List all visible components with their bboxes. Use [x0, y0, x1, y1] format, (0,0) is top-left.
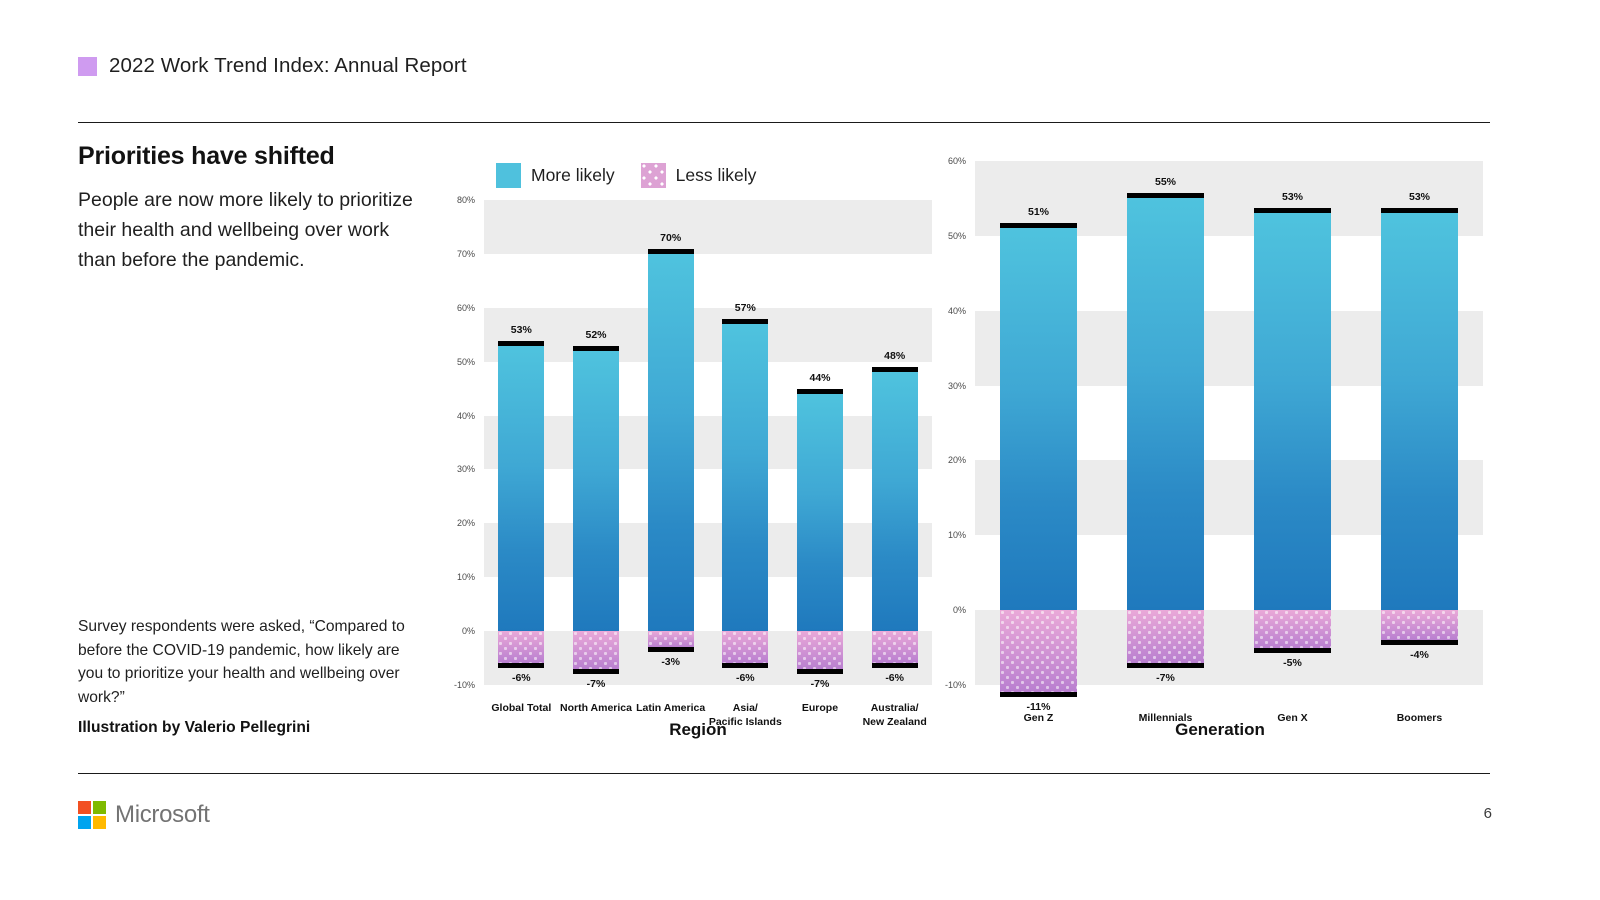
x-axis-title-generation: Generation — [940, 720, 1500, 740]
logo-square-red — [78, 801, 91, 814]
bar-value-label-positive: 51% — [1028, 206, 1049, 218]
bar-value-label-positive: 53% — [1409, 191, 1430, 203]
chart-region: More likely Less likely 80%70%60%50%40%3… — [448, 155, 948, 745]
y-axis-tick-label: 30% — [457, 464, 475, 474]
kicker-swatch-icon — [78, 57, 97, 76]
bar-more-likely[interactable] — [498, 346, 544, 632]
grid-band — [484, 200, 932, 254]
bar-group[interactable]: 48%-6%Australia/ New Zealand — [872, 200, 918, 685]
bar-pattern-overlay — [1254, 610, 1330, 647]
microsoft-logo: Microsoft — [78, 801, 210, 829]
plot-area-generation: 60%50%40%30%20%10%0%-10%51%-11%Gen Z55%-… — [975, 161, 1483, 685]
y-axis-tick-label: 10% — [948, 530, 966, 540]
report-kicker: 2022 Work Trend Index: Annual Report — [78, 54, 467, 78]
y-axis-tick-label: 10% — [457, 572, 475, 582]
bar-group[interactable]: 53%-6%Global Total — [498, 200, 544, 685]
bar-group[interactable]: 53%-5%Gen X — [1254, 161, 1330, 685]
bar-pattern-overlay — [1381, 610, 1457, 640]
bar-value-label-negative: -6% — [885, 672, 904, 684]
bar-value-label-positive: 57% — [735, 302, 756, 314]
bar-value-label-negative: -3% — [661, 656, 680, 668]
bar-pattern-overlay — [573, 631, 619, 669]
bar-more-likely[interactable] — [722, 324, 768, 631]
bar-less-likely[interactable] — [648, 631, 694, 647]
y-axis-tick-label: 20% — [457, 518, 475, 528]
y-axis-tick-label: -10% — [945, 680, 966, 690]
bar-pattern-overlay — [722, 631, 768, 663]
plot-area-region: 80%70%60%50%40%30%20%10%0%-10%53%-6%Glob… — [484, 200, 932, 685]
bar-value-label-negative: -7% — [811, 678, 830, 690]
bar-more-likely[interactable] — [648, 254, 694, 631]
bar-less-likely[interactable] — [722, 631, 768, 663]
bar-less-likely[interactable] — [1381, 610, 1457, 640]
bar-pattern-overlay — [1000, 610, 1076, 692]
bar-value-label-negative: -6% — [736, 672, 755, 684]
bar-less-likely[interactable] — [1254, 610, 1330, 647]
y-axis-tick-label: 40% — [948, 306, 966, 316]
grid-band — [484, 416, 932, 470]
logo-square-yellow — [93, 816, 106, 829]
y-axis-tick-label: 20% — [948, 455, 966, 465]
bar-value-label-negative: -7% — [587, 678, 606, 690]
bar-less-likely[interactable] — [573, 631, 619, 669]
survey-question-footnote: Survey respondents were asked, “Compared… — [78, 615, 408, 709]
legend-label-less-likely: Less likely — [676, 165, 757, 186]
bar-value-label-negative: -5% — [1283, 657, 1302, 669]
illustration-credit: Illustration by Valerio Pellegrini — [78, 719, 310, 737]
bar-value-label-negative: -4% — [1410, 649, 1429, 661]
bar-group[interactable]: 57%-6%Asia/ Pacific Islands — [722, 200, 768, 685]
chart-legend: More likely Less likely — [496, 163, 756, 188]
y-axis-tick-label: 0% — [953, 605, 966, 615]
y-axis-tick-label: -10% — [454, 680, 475, 690]
y-axis-tick-label: 0% — [462, 626, 475, 636]
y-axis-tick-label: 60% — [457, 303, 475, 313]
page-number: 6 — [1484, 805, 1492, 822]
microsoft-squares-icon — [78, 801, 106, 829]
bar-value-label-positive: 52% — [585, 329, 606, 341]
bar-value-label-positive: 55% — [1155, 176, 1176, 188]
bar-pattern-overlay — [872, 631, 918, 663]
bar-more-likely[interactable] — [1254, 213, 1330, 610]
bar-pattern-overlay — [648, 631, 694, 647]
footer-divider — [78, 773, 1490, 774]
bar-more-likely[interactable] — [1127, 198, 1203, 610]
bar-less-likely[interactable] — [1000, 610, 1076, 692]
bar-value-label-positive: 44% — [809, 372, 830, 384]
y-axis-tick-label: 40% — [457, 411, 475, 421]
grid-band — [484, 523, 932, 577]
bar-pattern-overlay — [1127, 610, 1203, 662]
bar-group[interactable]: 53%-4%Boomers — [1381, 161, 1457, 685]
kicker-label: 2022 Work Trend Index: Annual Report — [109, 54, 467, 78]
header-divider — [78, 122, 1490, 123]
bar-value-label-negative: -6% — [512, 672, 531, 684]
y-axis-tick-label: 30% — [948, 381, 966, 391]
bar-more-likely[interactable] — [573, 351, 619, 631]
legend-swatch-less-likely-icon — [641, 163, 666, 188]
legend-label-more-likely: More likely — [531, 165, 615, 186]
legend-item-less-likely: Less likely — [641, 163, 757, 188]
microsoft-wordmark: Microsoft — [115, 801, 210, 829]
bar-less-likely[interactable] — [797, 631, 843, 669]
logo-square-green — [93, 801, 106, 814]
bar-less-likely[interactable] — [498, 631, 544, 663]
y-axis-tick-label: 50% — [948, 231, 966, 241]
bar-value-label-positive: 53% — [1282, 191, 1303, 203]
y-axis-tick-label: 80% — [457, 195, 475, 205]
bar-more-likely[interactable] — [797, 394, 843, 631]
bar-value-label-positive: 48% — [884, 350, 905, 362]
x-axis-title-region: Region — [448, 720, 948, 740]
bar-value-label-positive: 70% — [660, 232, 681, 244]
bar-more-likely[interactable] — [1000, 228, 1076, 610]
bar-pattern-overlay — [797, 631, 843, 669]
chart-generation: 60%50%40%30%20%10%0%-10%51%-11%Gen Z55%-… — [940, 155, 1500, 745]
bar-more-likely[interactable] — [1381, 213, 1457, 610]
grid-band — [484, 308, 932, 362]
bar-group[interactable]: 44%-7%Europe — [797, 200, 843, 685]
legend-item-more-likely: More likely — [496, 163, 615, 188]
bar-group[interactable]: 55%-7%Millennials — [1127, 161, 1203, 685]
legend-swatch-more-likely-icon — [496, 163, 521, 188]
grid-band — [484, 631, 932, 685]
y-axis-tick-label: 50% — [457, 357, 475, 367]
logo-square-blue — [78, 816, 91, 829]
bar-value-label-positive: 53% — [511, 324, 532, 336]
bar-group[interactable]: 51%-11%Gen Z — [1000, 161, 1076, 685]
y-axis-tick-label: 70% — [457, 249, 475, 259]
bar-more-likely[interactable] — [872, 372, 918, 631]
bar-less-likely[interactable] — [872, 631, 918, 663]
page-title: Priorities have shifted — [78, 142, 335, 171]
bar-value-label-negative: -7% — [1156, 672, 1175, 684]
bar-pattern-overlay — [498, 631, 544, 663]
y-axis-tick-label: 60% — [948, 156, 966, 166]
bar-group[interactable]: 70%-3%Latin America — [648, 200, 694, 685]
page-subtitle: People are now more likely to prioritize… — [78, 185, 423, 275]
bar-group[interactable]: 52%-7%North America — [573, 200, 619, 685]
bar-less-likely[interactable] — [1127, 610, 1203, 662]
grid-bands-region — [484, 200, 932, 685]
